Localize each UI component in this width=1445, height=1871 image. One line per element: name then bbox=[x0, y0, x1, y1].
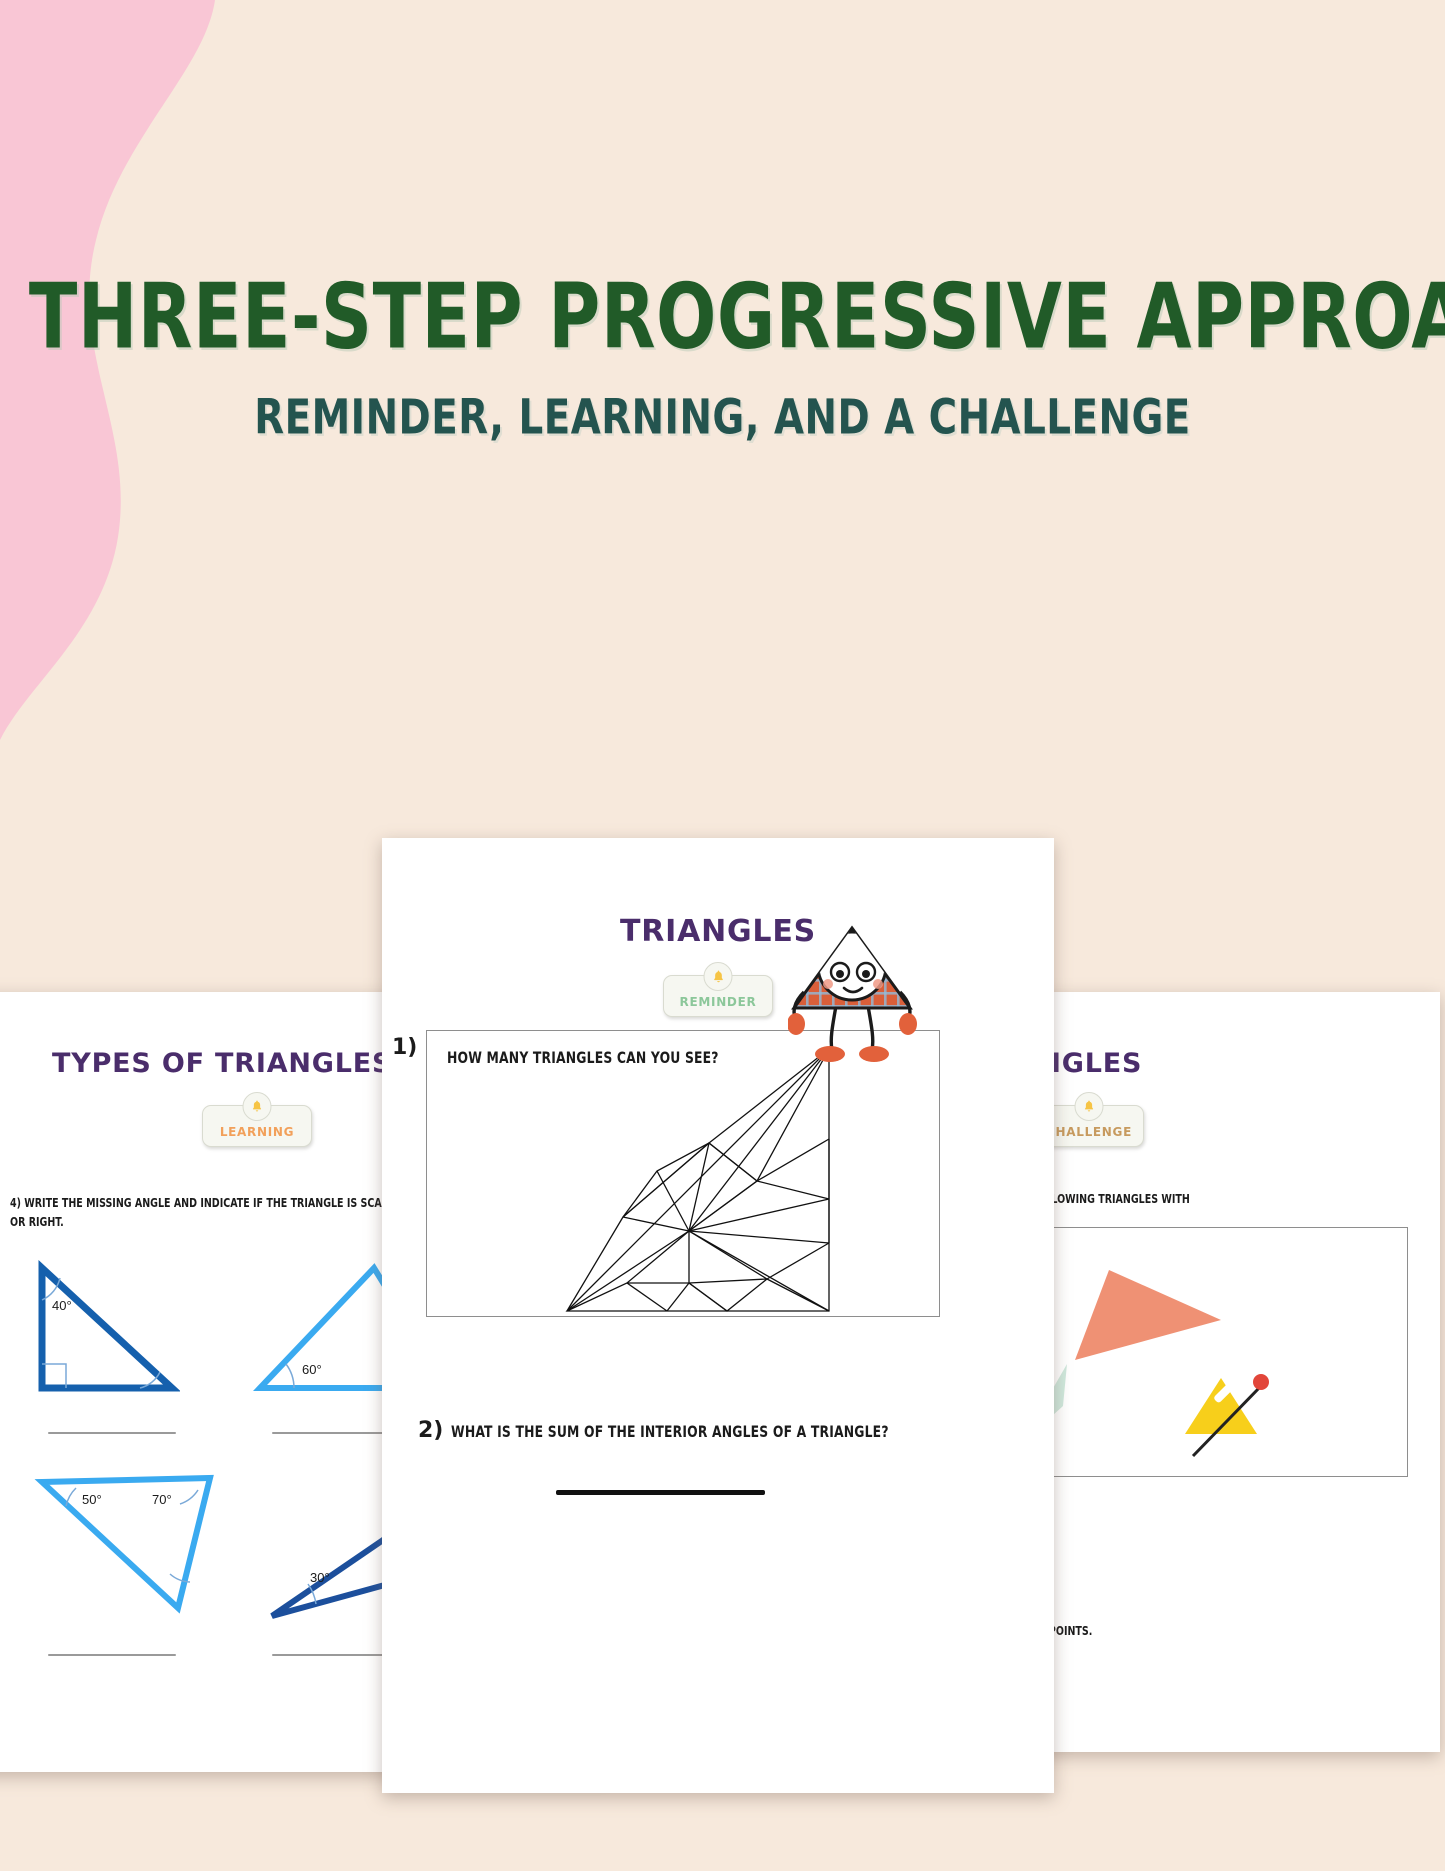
bell-icon bbox=[243, 1092, 272, 1121]
worksheet-page-reminder[interactable]: TRIANGLES REMINDER bbox=[382, 838, 1054, 1793]
angle-label-30: 30° bbox=[310, 1570, 330, 1585]
triangle-character-icon bbox=[788, 922, 920, 1087]
triangle-figure-1: 40° bbox=[30, 1260, 180, 1410]
salmon-triangle bbox=[1075, 1270, 1221, 1360]
page-subtitle: REMINDER, LEARNING, AND A CHALLENGE bbox=[22, 394, 1424, 442]
angle-label-70: 70° bbox=[152, 1492, 172, 1507]
answer-line-1[interactable] bbox=[48, 1432, 176, 1434]
answer-line-4[interactable] bbox=[272, 1654, 400, 1656]
question-2-number: 2) bbox=[418, 1418, 443, 1443]
angle-label-40: 40° bbox=[52, 1298, 72, 1313]
left-instruction-line-1: 4) WRITE THE MISSING ANGLE AND INDICATE … bbox=[10, 1194, 424, 1213]
question-2-text: WHAT IS THE SUM OF THE INTERIOR ANGLES O… bbox=[451, 1422, 889, 1441]
answer-line-2[interactable] bbox=[272, 1432, 400, 1434]
angle-label-60: 60° bbox=[302, 1362, 322, 1377]
triangle-figure-3: 50° 70° bbox=[30, 1470, 230, 1635]
bell-icon bbox=[704, 962, 733, 991]
answer-line-3[interactable] bbox=[48, 1654, 176, 1656]
left-instruction-line-2: OR RIGHT. bbox=[10, 1213, 424, 1232]
badge-reminder-label: REMINDER bbox=[680, 995, 757, 1009]
question-2-answer-line[interactable] bbox=[556, 1490, 765, 1495]
question-1-number: 1) bbox=[392, 1035, 417, 1060]
badge-challenge-label: CHALLENGE bbox=[1046, 1125, 1132, 1139]
header-block: THREE-STEP PROGRESSIVE APPROACH REMINDER… bbox=[0, 272, 1445, 434]
bell-icon bbox=[1075, 1092, 1104, 1121]
badge-reminder: REMINDER bbox=[663, 975, 773, 1017]
yellow-triangle-dart bbox=[1185, 1374, 1269, 1456]
angle-label-50: 50° bbox=[82, 1492, 102, 1507]
badge-learning: LEARNING bbox=[202, 1105, 312, 1147]
badge-learning-label: LEARNING bbox=[220, 1125, 294, 1139]
center-page-title: TRIANGLES bbox=[382, 914, 1054, 949]
page-title: THREE-STEP PROGRESSIVE APPROACH bbox=[29, 272, 1416, 362]
question-2-row: 2) WHAT IS THE SUM OF THE INTERIOR ANGLE… bbox=[418, 1418, 960, 1443]
